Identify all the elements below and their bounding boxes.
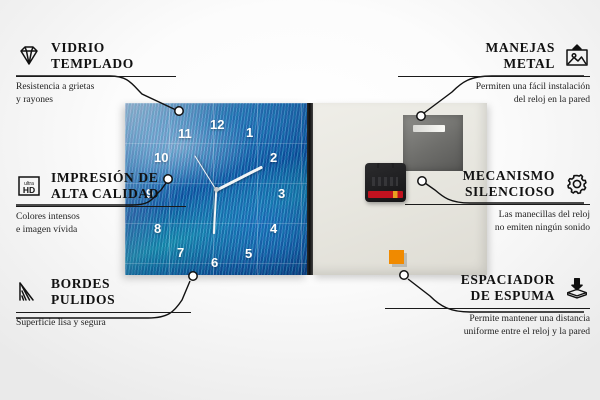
feature-manejas-metal: MANEJAS METAL Permiten una fácil instala…	[398, 40, 590, 107]
desc-line-1: Superficie lisa y segura	[16, 317, 191, 330]
feature-description: Las manecillas del reloj no emiten ningú…	[405, 209, 590, 235]
hanger-detail	[372, 177, 398, 186]
desc-line-2: e imagen vívida	[16, 224, 186, 237]
feature-title: MANEJAS METAL	[398, 40, 555, 72]
polished-edges-icon	[16, 280, 42, 304]
feature-title: MECANISMO SILENCIOSO	[405, 168, 555, 200]
clock-number-2: 2	[270, 150, 277, 165]
feature-header: ESPACIADOR DE ESPUMA	[385, 272, 590, 304]
clock-number-6: 6	[211, 255, 218, 270]
hanger-loop	[377, 163, 394, 168]
feature-header: VIDRIO TEMPLADO	[16, 40, 176, 72]
desc-line-2: del reloj en la pared	[398, 94, 590, 107]
feature-divider	[16, 206, 186, 207]
title-line-1: VIDRIO	[51, 40, 134, 56]
gear-icon	[564, 172, 590, 196]
clock-minute-hand	[215, 166, 263, 192]
clock-hour-hand	[213, 190, 218, 234]
feature-header: MECANISMO SILENCIOSO	[405, 168, 590, 200]
feature-divider	[405, 204, 590, 205]
title-line-2: ALTA CALIDAD	[51, 186, 159, 202]
feature-description: Permiten una fácil instalación del reloj…	[398, 81, 590, 107]
clock-number-3: 3	[278, 186, 285, 201]
feature-title: VIDRIO TEMPLADO	[51, 40, 134, 72]
desc-line-2: uniforme entre el reloj y la pared	[385, 326, 590, 339]
desc-line-1: Permiten una fácil instalación	[398, 81, 590, 94]
desc-line-1: Colores intensos	[16, 211, 186, 224]
infographic-stage: 12 1 2 3 4 5 6 7 8 9 10 11	[0, 0, 600, 400]
svg-text:HD: HD	[23, 185, 35, 195]
diamond-icon	[16, 44, 42, 68]
feature-bordes-pulidos: BORDES PULIDOS Superficie lisa y segura	[16, 276, 191, 330]
feature-divider	[398, 76, 590, 77]
title-line-1: BORDES	[51, 276, 115, 292]
feature-divider	[16, 312, 191, 313]
feature-title: ESPACIADOR DE ESPUMA	[385, 272, 555, 304]
feature-espaciador-espuma: ESPACIADOR DE ESPUMA Permite mantener un…	[385, 272, 590, 339]
feature-vidrio-templado: VIDRIO TEMPLADO Resistencia a grietas y …	[16, 40, 176, 107]
title-line-1: ESPACIADOR	[385, 272, 555, 288]
feature-divider	[16, 76, 176, 77]
feature-description: Resistencia a grietas y rayones	[16, 81, 176, 107]
foam-spacer-pad	[389, 250, 404, 264]
feature-header: BORDES PULIDOS	[16, 276, 191, 308]
feature-header: MANEJAS METAL	[398, 40, 590, 72]
feature-description: Permite mantener una distancia uniforme …	[385, 313, 590, 339]
title-line-2: TEMPLADO	[51, 56, 134, 72]
clock-number-10: 10	[154, 150, 168, 165]
desc-line-1: Resistencia a grietas	[16, 81, 176, 94]
title-line-1: MECANISMO	[405, 168, 555, 184]
clock-number-5: 5	[245, 246, 252, 261]
clock-number-1: 1	[246, 125, 253, 140]
feature-impresion-alta-calidad: ultra HD IMPRESIÓN DE ALTA CALIDAD Color…	[16, 170, 186, 237]
feature-mecanismo-silencioso: MECANISMO SILENCIOSO Las manecillas del …	[405, 168, 590, 235]
product-label-plate	[403, 115, 463, 171]
clock-number-4: 4	[270, 221, 277, 236]
feature-description: Superficie lisa y segura	[16, 317, 191, 330]
clock-pivot	[214, 187, 219, 192]
title-line-1: MANEJAS	[398, 40, 555, 56]
metal-hanger-bracket	[365, 163, 406, 202]
feature-description: Colores intensos e imagen vívida	[16, 211, 186, 237]
title-line-2: PULIDOS	[51, 292, 115, 308]
desc-line-1: Permite mantener una distancia	[385, 313, 590, 326]
feature-title: BORDES PULIDOS	[51, 276, 115, 308]
desc-line-1: Las manecillas del reloj	[405, 209, 590, 222]
desc-line-2: no emiten ningún sonido	[405, 222, 590, 235]
clock-number-12: 12	[210, 117, 224, 132]
clock-number-7: 7	[177, 245, 184, 260]
clock-second-hand	[194, 155, 216, 190]
picture-hanger-icon	[564, 44, 590, 68]
title-line-2: DE ESPUMA	[385, 288, 555, 304]
feature-header: ultra HD IMPRESIÓN DE ALTA CALIDAD	[16, 170, 186, 202]
feature-title: IMPRESIÓN DE ALTA CALIDAD	[51, 170, 159, 202]
desc-line-2: y rayones	[16, 94, 176, 107]
title-line-1: IMPRESIÓN DE	[51, 170, 159, 186]
hanger-stripe	[368, 191, 403, 198]
title-line-2: SILENCIOSO	[405, 184, 555, 200]
foam-spacer-icon	[564, 276, 590, 300]
feature-divider	[385, 308, 590, 309]
ultra-hd-icon: ultra HD	[16, 174, 42, 198]
clock-number-11: 11	[178, 126, 192, 141]
label-strip	[413, 125, 445, 132]
title-line-2: METAL	[398, 56, 555, 72]
